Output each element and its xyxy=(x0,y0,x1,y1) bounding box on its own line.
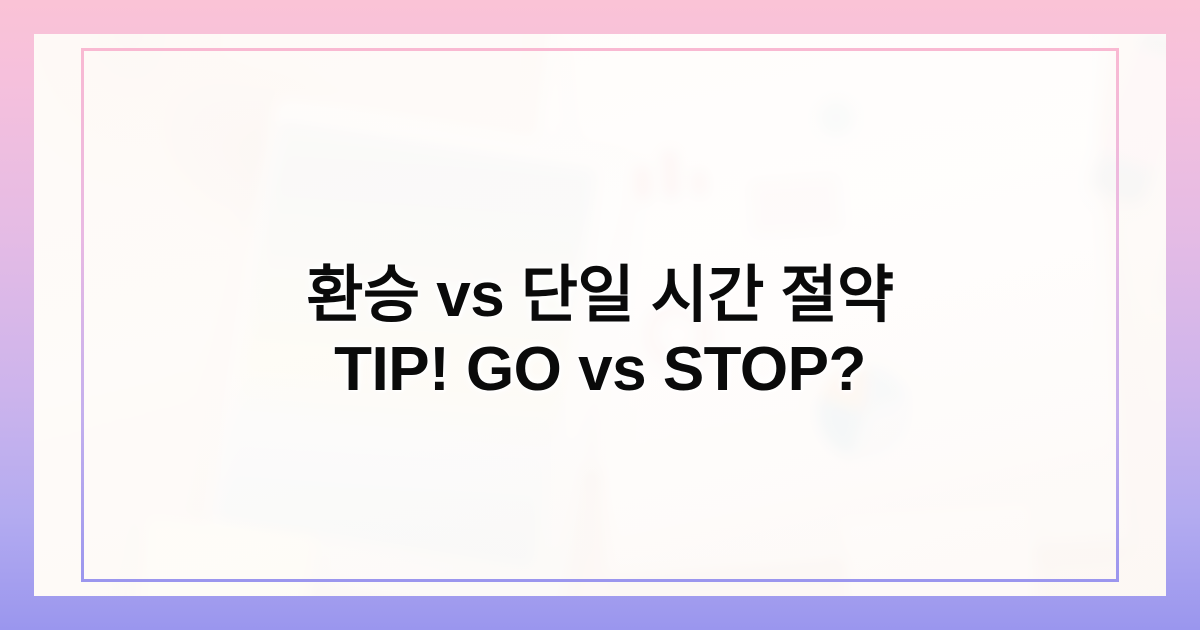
page-title: 환승 vs 단일 시간 절약 TIP! GO vs STOP? xyxy=(280,259,920,408)
headline-container: 환승 vs 단일 시간 절약 TIP! GO vs STOP? xyxy=(34,34,1166,596)
photo-plate: 환승 vs 단일 시간 절약 TIP! GO vs STOP? xyxy=(34,34,1166,596)
thumbnail-card: 환승 vs 단일 시간 절약 TIP! GO vs STOP? xyxy=(0,0,1200,630)
